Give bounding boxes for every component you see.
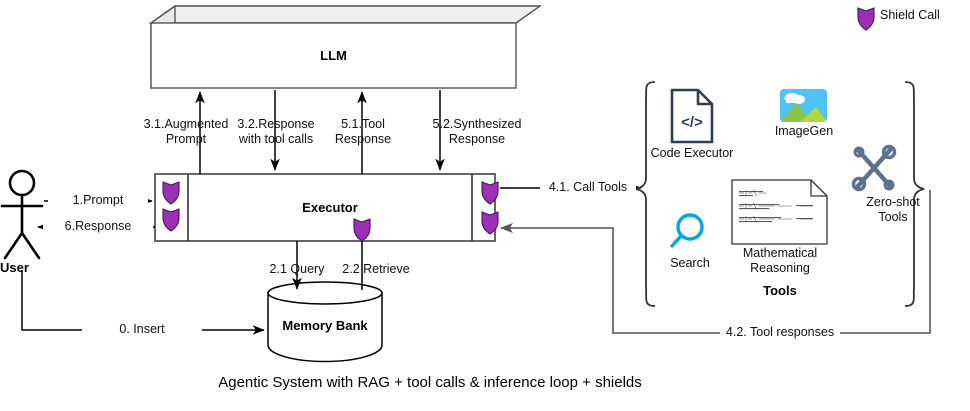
diagram-caption: Agentic System with RAG + tool calls & i… [0,374,860,391]
image-icon [780,89,827,122]
formula-document-icon [732,180,827,244]
edge-label-retrieve: 2.2 Retrieve [336,262,416,277]
edge-label-augmented-prompt: 3.1.Augmented Prompt [136,117,236,147]
magnifier-icon [672,215,702,246]
svg-text:</>: </> [681,114,703,131]
crossed-tools-icon [854,147,895,190]
memory-bank-label: Memory Bank [268,318,382,333]
edge-label-tool-response-line1: 5.1.Tool [320,117,406,132]
tool-label-search: Search [653,256,727,271]
user-actor [2,171,42,258]
edge-label-augmented-prompt-line1: 3.1.Augmented [136,117,236,132]
edge-label-query: 2.1 Query [262,262,332,277]
edge-label-response-tool-calls-line2: with tool calls [224,132,328,147]
edge-label-response-tool-calls-line1: 3.2.Response [224,117,328,132]
edge-label-synthesized-response: 5.2.Synthesized Response [424,117,530,147]
tools-group-label: Tools [720,283,840,298]
edge-label-tool-responses: 4.2. Tool responses [720,325,840,340]
edge-label-call-tools: 4.1. Call Tools [540,180,636,195]
edge-label-tool-response: 5.1.Tool Response [320,117,406,147]
tool-label-zero-shot-tools: Zero-shot Tools [838,195,948,225]
shield-icon-legend [858,8,874,30]
llm-label: LLM [151,48,516,63]
tool-label-imagegen: ImageGen [763,124,845,139]
llm-node [151,6,540,88]
code-document-icon: </> [672,90,712,142]
edge-label-response-tool-calls: 3.2.Response with tool calls [224,117,328,147]
tool-label-mathematical-reasoning-line2: Reasoning [728,261,832,276]
tool-label-mathematical-reasoning-line1: Mathematical [728,246,832,261]
tool-label-mathematical-reasoning: Mathematical Reasoning [728,246,832,276]
edge-label-tool-response-line2: Response [320,132,406,147]
tool-label-zero-shot-tools-line1: Zero-shot [838,195,948,210]
edge-label-synthesized-response-line2: Response [424,132,530,147]
edge-label-prompt: 1.Prompt [48,193,148,208]
user-label: User [0,260,44,275]
edge-label-augmented-prompt-line2: Prompt [136,132,236,147]
edge-insert [22,270,264,330]
tool-label-code-executor: Code Executor [647,146,737,161]
executor-label: Executor [188,200,472,215]
edge-label-synthesized-response-line1: 5.2.Synthesized [424,117,530,132]
tool-label-zero-shot-tools-line2: Tools [838,210,948,225]
edge-label-response: 6.Response [43,219,153,234]
edge-label-insert: 0. Insert [82,322,202,337]
legend-label: Shield Call [880,8,966,23]
